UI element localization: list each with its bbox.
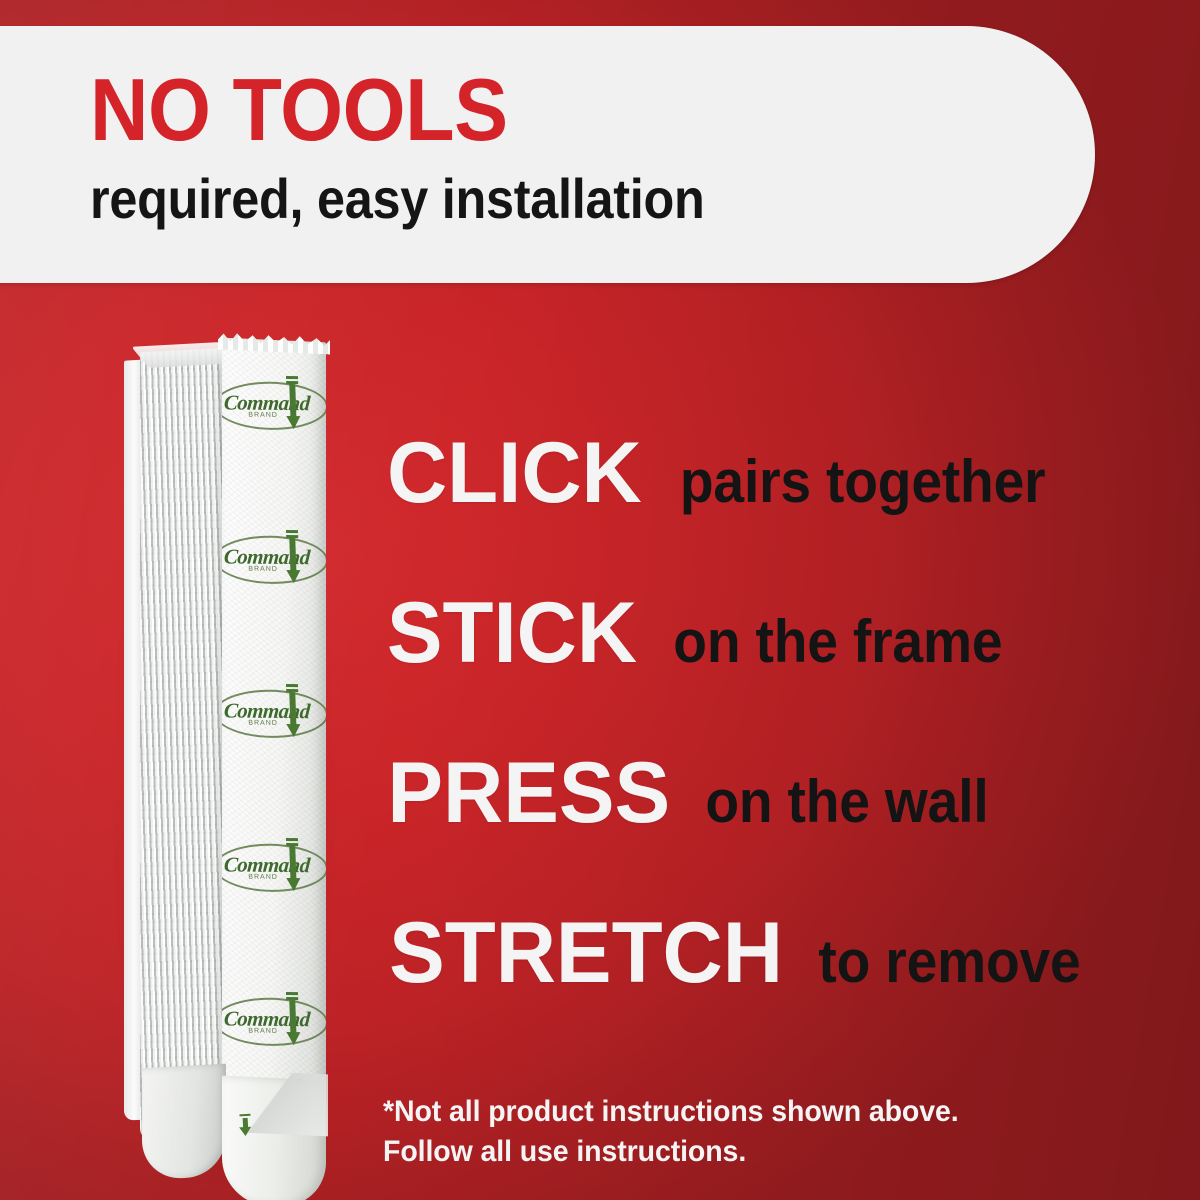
instruction-step: CLICK pairs together [383,430,1143,590]
command-brand-logo: Command BRAND [222,835,326,898]
footnote-line-2: Follow all use instructions. [383,1132,1048,1172]
instruction-step: STICK on the frame [383,590,1143,750]
logo-brand-text: BRAND [248,720,278,727]
ad-canvas: NO TOOLS required, easy installation Com… [0,0,1200,1200]
down-arrow-icon [285,530,300,584]
instruction-step: PRESS on the wall [383,750,1143,910]
down-arrow-icon [285,376,300,430]
command-brand-logo: Command BRAND [222,989,326,1052]
step-description: pairs together [680,452,1045,512]
instruction-step: STRETCH to remove [383,910,1143,1070]
down-arrow-icon [285,992,300,1046]
strip-hook-surface [140,348,226,1143]
logo-brand-text: BRAND [248,566,278,573]
command-logo-column: Command BRAND Command BRAND Co [222,371,326,1147]
tab-arrow-icon [237,1114,254,1137]
logo-brand-text: BRAND [248,1028,278,1035]
logo-brand-text: BRAND [248,874,278,881]
strip-printed-liner: Command BRAND Command BRAND Co [222,338,326,1149]
instruction-steps: CLICK pairs together STICK on the frame … [383,430,1143,1070]
step-description: on the frame [673,612,1002,672]
product-image: Command BRAND Command BRAND Co [118,326,328,1166]
step-description: on the wall [705,772,988,832]
logo-brand-text: BRAND [248,412,278,419]
step-keyword: STRETCH [389,910,783,996]
command-brand-logo: Command BRAND [222,681,326,744]
step-keyword: CLICK [387,430,642,516]
header-text-block: NO TOOLS required, easy installation [90,70,990,227]
header-banner: NO TOOLS required, easy installation [0,26,1095,283]
command-brand-logo: Command BRAND [222,527,326,590]
step-keyword: PRESS [387,750,670,836]
down-arrow-icon [285,838,300,892]
page-title: NO TOOLS [90,70,918,151]
footnote-line-1: *Not all product instructions shown abov… [383,1092,1048,1132]
footnote: *Not all product instructions shown abov… [383,1092,1048,1172]
down-arrow-icon [285,684,300,738]
step-keyword: STICK [387,590,637,676]
pull-tab-left [142,1064,226,1180]
step-description: to remove [819,932,1081,992]
page-subtitle: required, easy installation [90,171,900,227]
command-brand-logo: Command BRAND [222,373,326,436]
